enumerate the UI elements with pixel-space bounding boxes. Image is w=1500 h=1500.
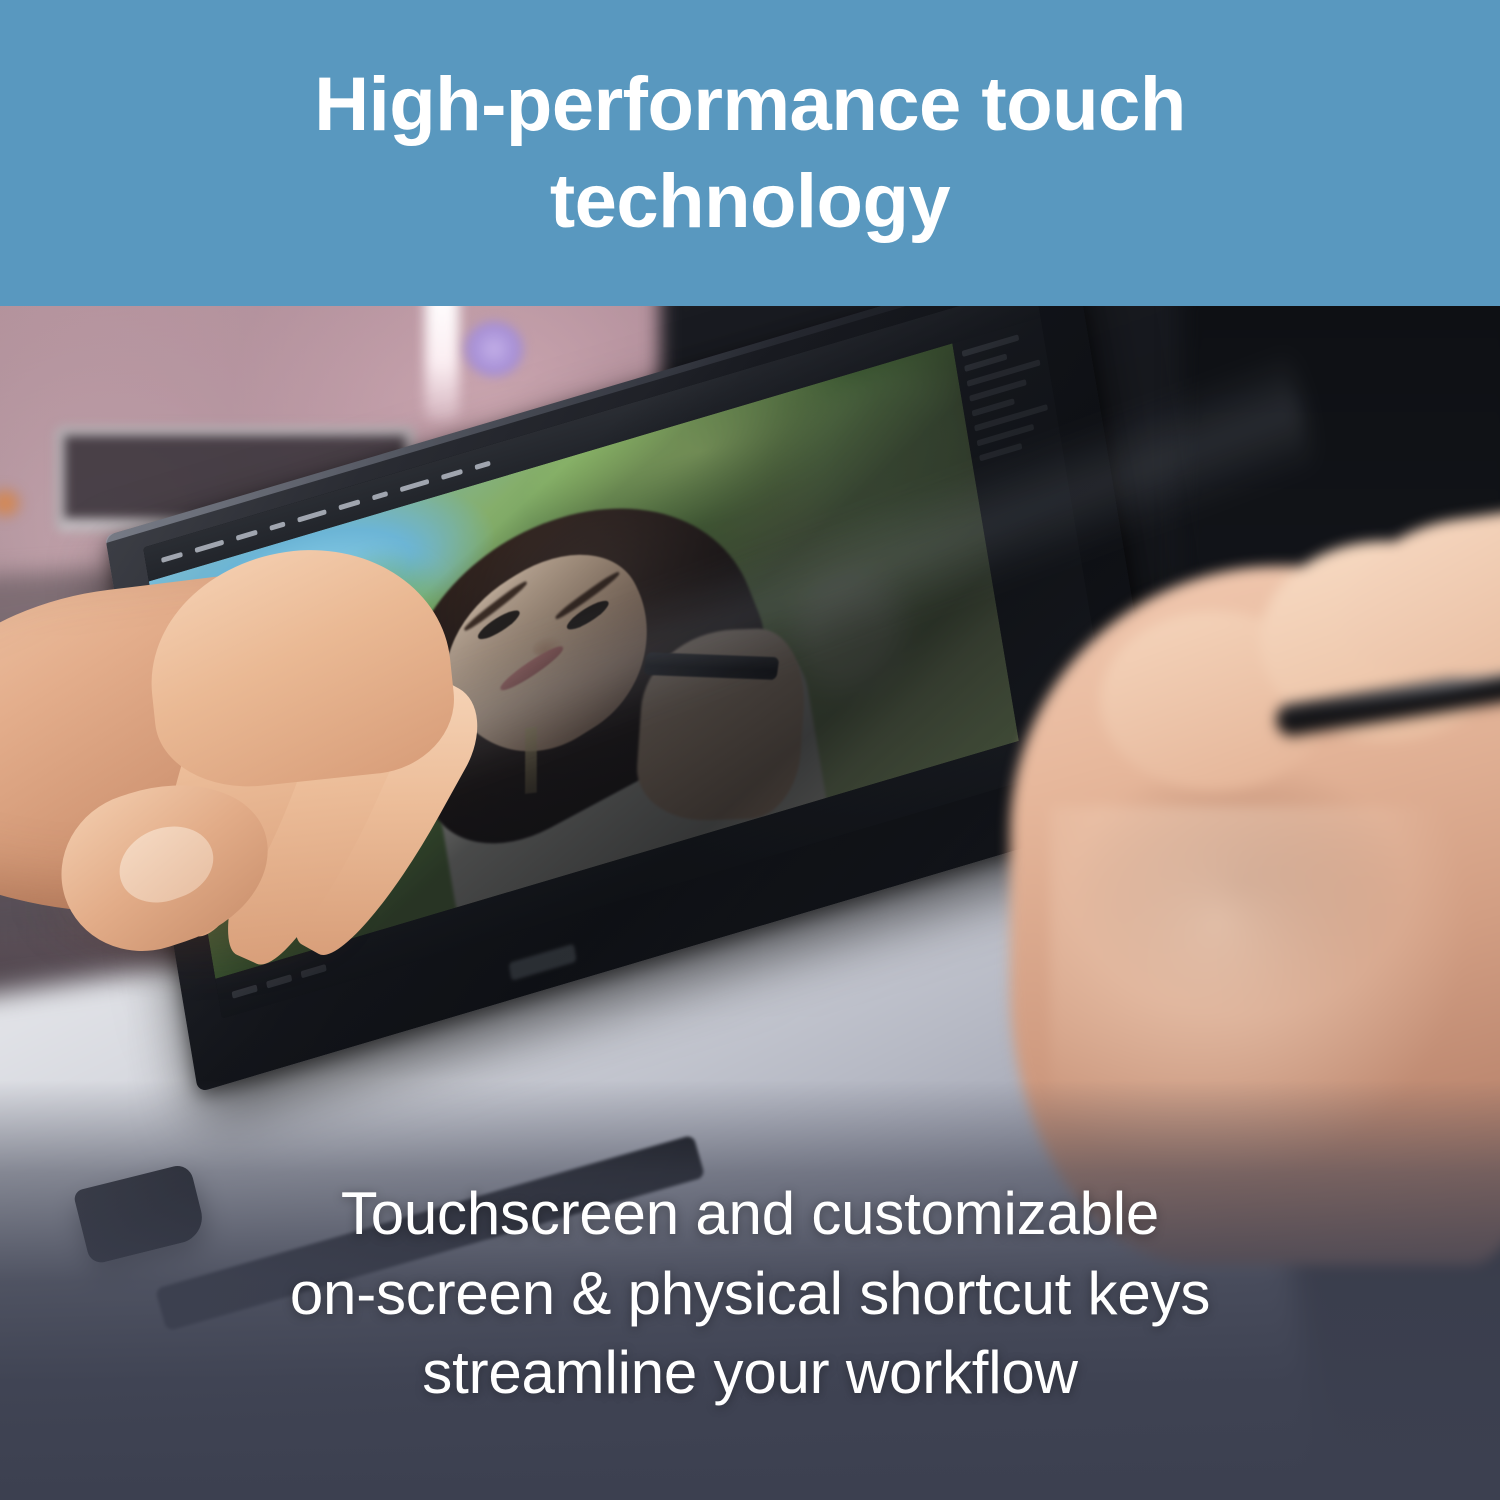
panel-row[interactable] <box>962 334 1020 357</box>
white-light-strip <box>425 306 459 421</box>
caption-line-1: Touchscreen and customizable <box>0 1174 1500 1253</box>
headline-title: High-performance touch technology <box>160 56 1340 251</box>
panel-row[interactable] <box>964 353 1007 371</box>
left-hand-touching-screen <box>0 456 600 1076</box>
feature-banner-page: High-performance touch technology <box>0 0 1500 1500</box>
caption-line-2: on-screen & physical shortcut keys <box>0 1254 1500 1333</box>
purple-bokeh-light <box>464 321 524 377</box>
caption-line-3: streamline your workflow <box>0 1333 1500 1412</box>
headline-banner: High-performance touch technology <box>0 0 1500 306</box>
left-hand-knuckles <box>139 536 461 796</box>
panel-row[interactable] <box>972 398 1015 416</box>
caption-block: Touchscreen and customizable on-screen &… <box>0 1174 1500 1412</box>
panel-row[interactable] <box>979 443 1022 461</box>
